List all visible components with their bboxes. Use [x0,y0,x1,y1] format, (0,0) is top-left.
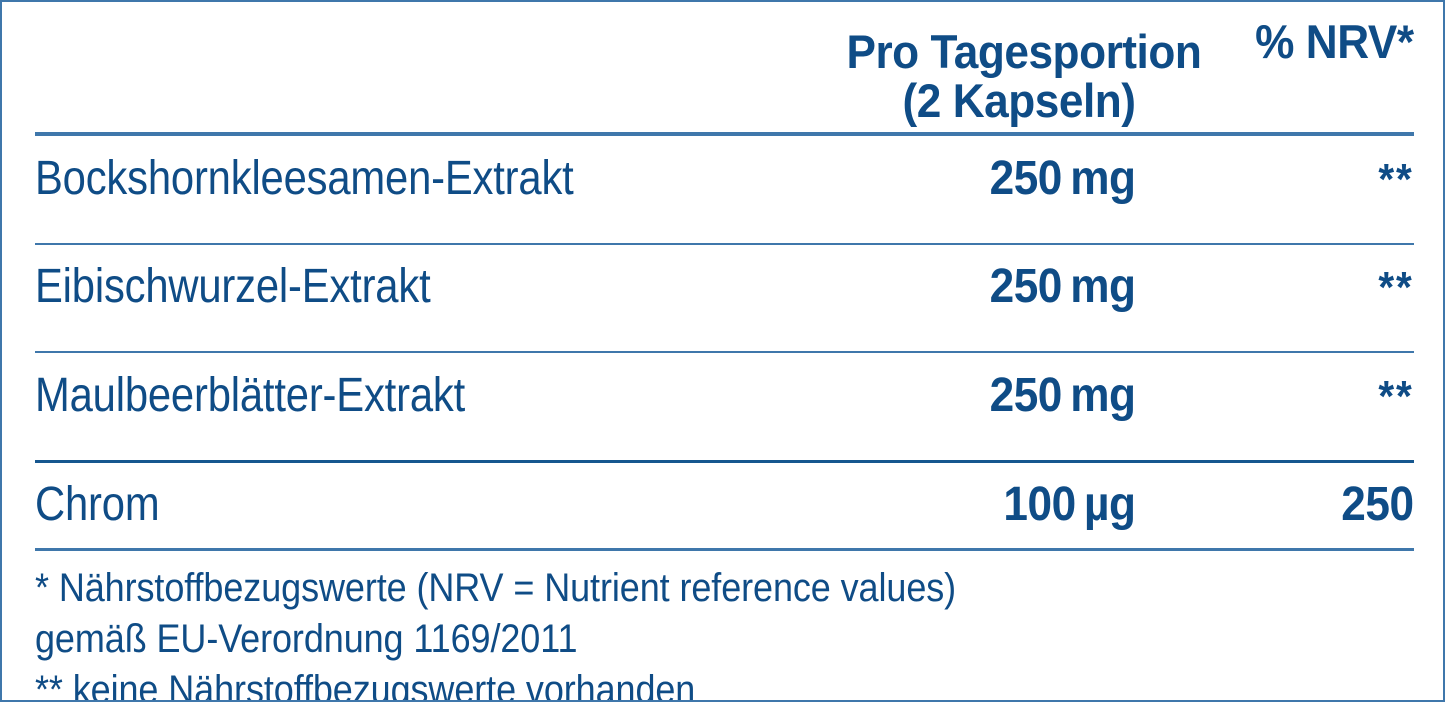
ingredient-nrv: ** [1158,256,1414,351]
header-name-spacer [35,2,828,132]
row-amount-cell: 250 mg [828,134,1136,244]
amount-unit: mg [1070,372,1135,420]
ingredient-amount: 100 µg [853,463,1136,548]
nutrition-facts-panel: Pro Tagesportion (2 Kapseln) % NRV* Bock… [0,0,1445,702]
amount-value: 100 [1003,481,1075,529]
row-amount-cell: 250 mg [828,244,1136,353]
amount-unit: mg [1070,263,1135,311]
row-nrv-cell: 250 [1135,461,1414,548]
row-amount-cell: 100 µg [828,461,1136,548]
amount-unit: µg [1084,481,1136,529]
row-name-cell: Chrom [35,461,828,548]
ingredient-nrv: ** [1158,365,1414,460]
header-cell-name [35,2,828,134]
amount-value: 250 [990,263,1062,311]
header-nrv-text: % NRV* [1152,18,1414,67]
table-body: Bockshornkleesamen-Extrakt 250 mg ** [35,134,1414,548]
table-header-row: Pro Tagesportion (2 Kapseln) % NRV* [35,2,1414,134]
row-amount-cell: 250 mg [828,352,1136,461]
ingredient-name: Bockshornkleesamen-Extrakt [35,136,725,221]
row-nrv-cell: ** [1135,352,1414,461]
row-nrv-cell: ** [1135,134,1414,244]
table-row: Eibischwurzel-Extrakt 250 mg ** [35,244,1414,353]
row-name-cell: Maulbeerblätter-Extrakt [35,352,828,461]
amount-unit: mg [1070,155,1135,203]
table-row: Bockshornkleesamen-Extrakt 250 mg ** [35,134,1414,244]
nutrition-table: Pro Tagesportion (2 Kapseln) % NRV* Bock… [35,2,1414,548]
ingredient-name: Maulbeerblätter-Extrakt [35,353,725,438]
row-name-cell: Bockshornkleesamen-Extrakt [35,134,828,244]
header-amount-line1: Pro Tagesportion [846,25,1201,78]
ingredient-amount: 250 mg [853,245,1136,330]
ingredient-amount: 250 mg [853,136,1136,221]
header-amount-line2: (2 Kapseln) [846,77,1135,126]
header-amount-text: Pro Tagesportion (2 Kapseln) [846,28,1135,132]
ingredient-name: Chrom [35,463,725,548]
row-name-cell: Eibischwurzel-Extrakt [35,244,828,353]
amount-value: 250 [990,155,1062,203]
footnotes-block: * Nährstoffbezugswerte (NRV = Nutrient r… [35,548,1414,702]
ingredient-nrv: 250 [1158,463,1414,548]
table-header: Pro Tagesportion (2 Kapseln) % NRV* [35,2,1414,134]
amount-value: 250 [990,372,1062,420]
table-row: Maulbeerblätter-Extrakt 250 mg ** [35,352,1414,461]
table-row: Chrom 100 µg 250 [35,461,1414,548]
ingredient-name: Eibischwurzel-Extrakt [35,245,725,330]
footnote-line-3: ** keine Nährstoffbezugswerte vorhanden [35,665,1276,702]
row-nrv-cell: ** [1135,244,1414,353]
footnote-line-1: * Nährstoffbezugswerte (NRV = Nutrient r… [35,563,1276,614]
footnote-line-2: gemäß EU-Verordnung 1169/2011 [35,614,1276,665]
ingredient-nrv: ** [1158,148,1414,243]
ingredient-amount: 250 mg [853,353,1136,438]
header-cell-amount: Pro Tagesportion (2 Kapseln) [828,2,1136,134]
nutrition-table-wrapper: Pro Tagesportion (2 Kapseln) % NRV* Bock… [35,2,1414,702]
